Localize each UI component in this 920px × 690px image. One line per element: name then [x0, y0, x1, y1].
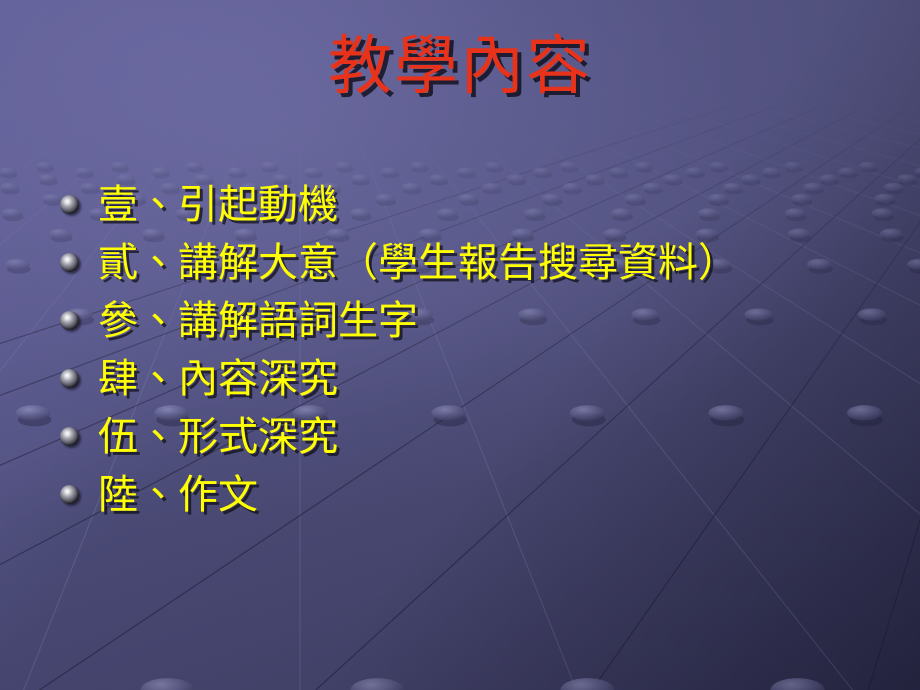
sphere-bullet-icon [60, 369, 79, 388]
list-item[interactable]: 參、講解語詞生字 [58, 292, 908, 350]
sphere-bullet-icon [60, 253, 79, 272]
sphere-bullet-icon [60, 195, 79, 214]
sphere-bullet-icon [60, 311, 79, 330]
list-item-label: 壹、引起動機 [98, 185, 338, 225]
list-item[interactable]: 伍、形式深究 [58, 408, 908, 466]
list-item[interactable]: 陸、作文 [58, 466, 908, 524]
presentation-slide: 教學內容 壹、引起動機貳、講解大意（學生報告搜尋資料）參、講解語詞生字肆、內容深… [0, 0, 920, 690]
sphere-bullet-icon [60, 485, 79, 504]
list-item-label: 肆、內容深究 [98, 359, 338, 399]
list-item-label: 參、講解語詞生字 [98, 301, 418, 341]
list-item[interactable]: 貳、講解大意（學生報告搜尋資料） [58, 234, 908, 292]
slide-title: 教學內容 [0, 34, 920, 101]
list-item-label: 陸、作文 [98, 475, 258, 515]
list-item[interactable]: 壹、引起動機 [58, 176, 908, 234]
list-item-label: 伍、形式深究 [98, 417, 338, 457]
list-item[interactable]: 肆、內容深究 [58, 350, 908, 408]
sphere-bullet-icon [60, 427, 79, 446]
slide-body-list: 壹、引起動機貳、講解大意（學生報告搜尋資料）參、講解語詞生字肆、內容深究伍、形式… [58, 176, 908, 524]
list-item-label: 貳、講解大意（學生報告搜尋資料） [98, 243, 738, 283]
